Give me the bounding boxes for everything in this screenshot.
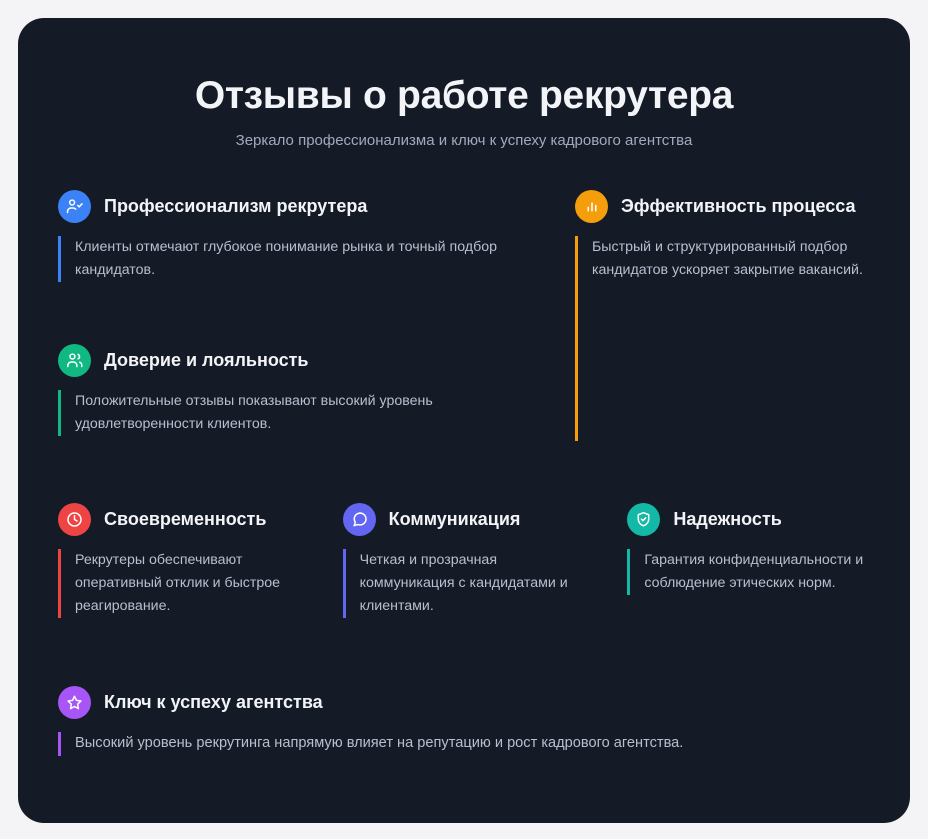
card-body: Высокий уровень рекрутинга напрямую влия… (58, 732, 870, 756)
content-panel: Отзывы о работе рекрутера Зеркало профес… (18, 18, 910, 823)
card-header: Коммуникация (343, 503, 586, 536)
card-body: Быстрый и структурированный подбор канди… (575, 236, 870, 441)
card-title: Надежность (673, 509, 782, 531)
top-section: Профессионализм рекрутера Клиенты отмеча… (58, 190, 870, 441)
card-body: Клиенты отмечают глубокое понимание рынк… (58, 236, 563, 282)
card-header: Эффективность процесса (575, 190, 870, 223)
card-header: Ключ к успеху агентства (58, 686, 870, 719)
card-header: Доверие и лояльность (58, 344, 563, 377)
card-title: Эффективность процесса (621, 196, 856, 218)
card-body: Рекрутеры обеспечивают оперативный откли… (58, 549, 301, 618)
top-left-column: Профессионализм рекрутера Клиенты отмеча… (58, 190, 563, 441)
card-body: Четкая и прозрачная коммуникация с канди… (343, 549, 586, 618)
clock-icon (58, 503, 91, 536)
triple-section: Своевременность Рекрутеры обеспечивают о… (58, 503, 870, 618)
card-title: Коммуникация (389, 509, 521, 531)
users-group-icon (58, 344, 91, 377)
card-body: Положительные отзывы показывают высокий … (58, 390, 563, 436)
shield-check-icon (627, 503, 660, 536)
star-icon (58, 686, 91, 719)
card-title: Доверие и лояльность (104, 350, 309, 372)
speech-bubble-icon (343, 503, 376, 536)
card-efficiency[interactable]: Эффективность процесса Быстрый и структу… (575, 190, 870, 441)
card-body: Гарантия конфиденциальности и соблюдение… (627, 549, 870, 595)
card-header: Своевременность (58, 503, 301, 536)
card-timeliness[interactable]: Своевременность Рекрутеры обеспечивают о… (58, 503, 301, 618)
card-title: Ключ к успеху агентства (104, 692, 323, 714)
card-title: Профессионализм рекрутера (104, 196, 367, 218)
page-header: Отзывы о работе рекрутера Зеркало профес… (58, 74, 870, 150)
card-header: Профессионализм рекрутера (58, 190, 563, 223)
card-reliability[interactable]: Надежность Гарантия конфиденциальности и… (627, 503, 870, 618)
card-key-to-success[interactable]: Ключ к успеху агентства Высокий уровень … (58, 686, 870, 756)
card-communication[interactable]: Коммуникация Четкая и прозрачная коммуни… (343, 503, 586, 618)
page-subtitle: Зеркало профессионализма и ключ к успеху… (58, 131, 870, 151)
user-check-icon (58, 190, 91, 223)
card-header: Надежность (627, 503, 870, 536)
top-right-column: Эффективность процесса Быстрый и структу… (575, 190, 870, 441)
page-root: Отзывы о работе рекрутера Зеркало профес… (0, 0, 928, 839)
page-title: Отзывы о работе рекрутера (58, 74, 870, 118)
card-trust[interactable]: Доверие и лояльность Положительные отзыв… (58, 344, 563, 436)
card-professionalism[interactable]: Профессионализм рекрутера Клиенты отмеча… (58, 190, 563, 282)
card-title: Своевременность (104, 509, 266, 531)
bar-chart-icon (575, 190, 608, 223)
